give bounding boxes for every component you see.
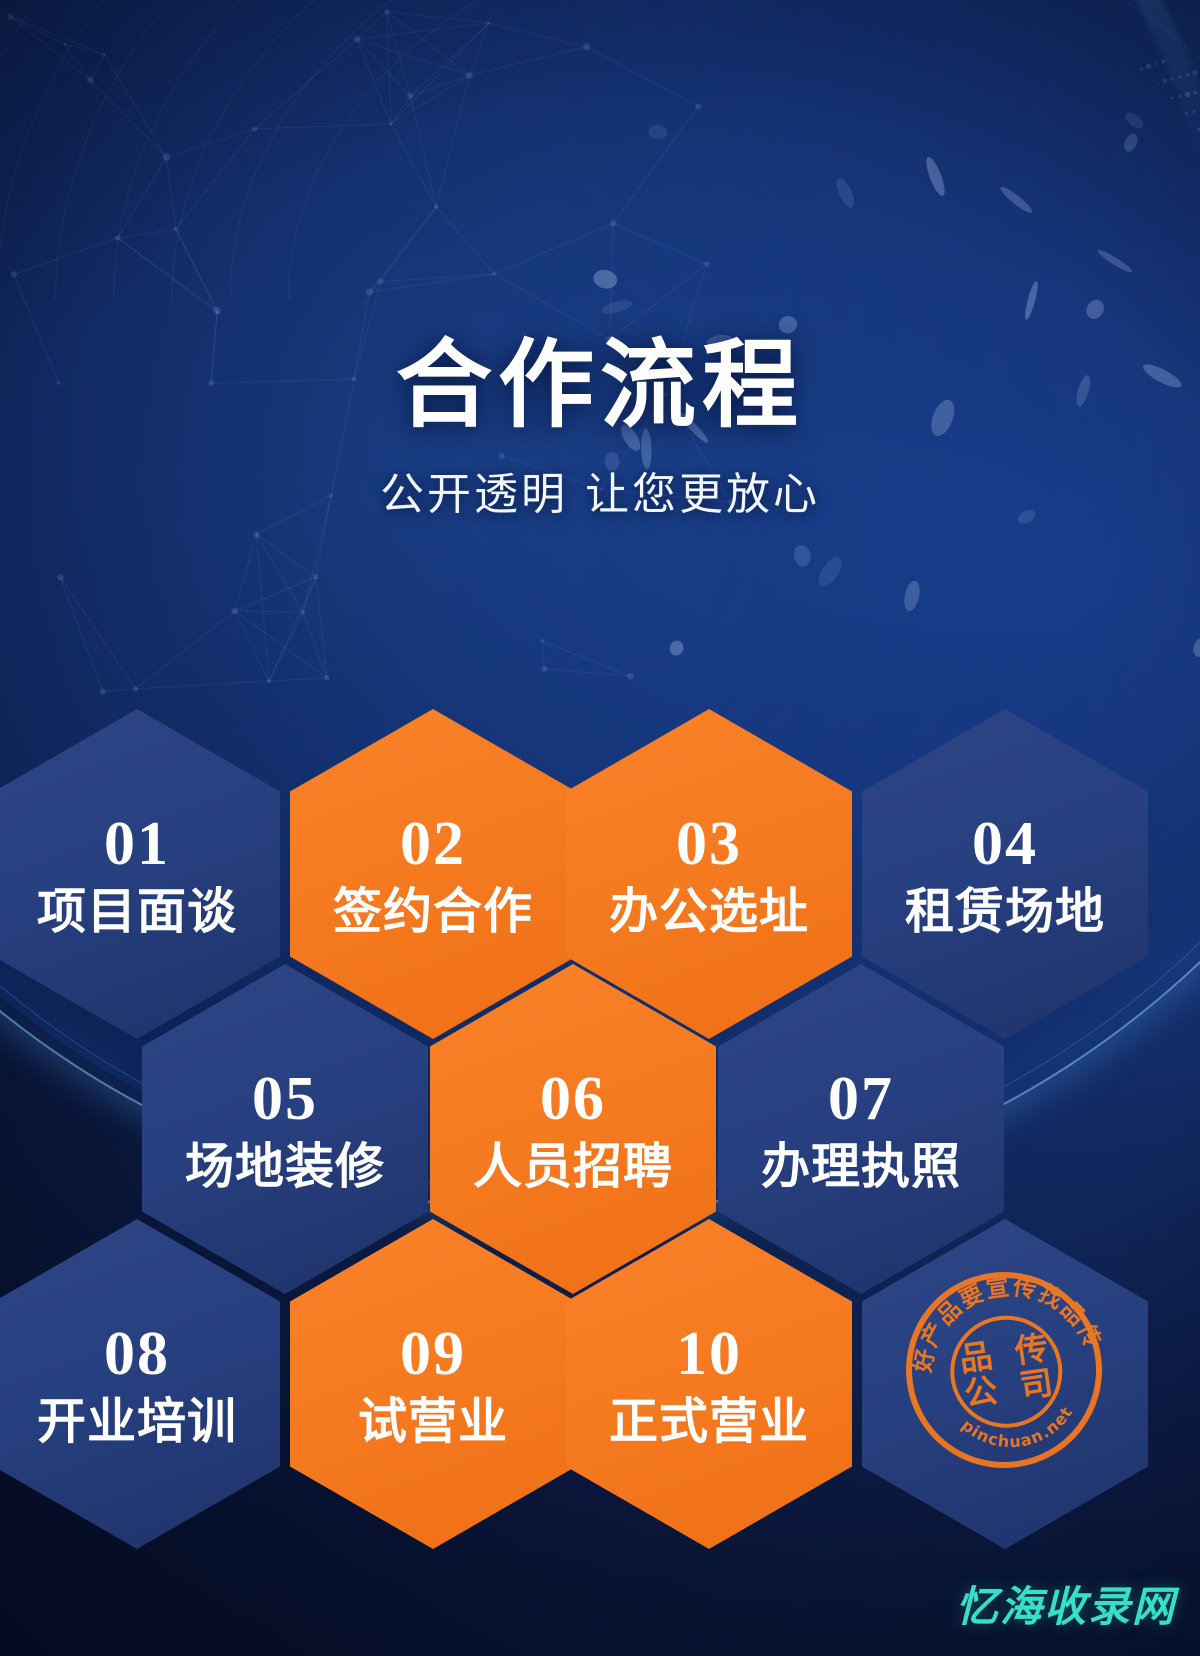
step-number: 06 [540, 1068, 606, 1130]
step-label: 人员招聘 [473, 1142, 673, 1191]
site-watermark: 忆海收录网 [956, 1573, 1176, 1634]
seal-center-char-4: 司 [1006, 1364, 1066, 1406]
step-label: 试营业 [358, 1397, 508, 1446]
poster-canvas: 合作流程 公开透明 让您更放心 01 项目面谈 02 签约合作 03 办公选址 … [0, 0, 1200, 1656]
step-number: 10 [676, 1323, 742, 1385]
step-number: 05 [252, 1068, 318, 1130]
step-label: 正式营业 [609, 1397, 809, 1446]
step-number: 08 [104, 1323, 170, 1385]
process-step-08[interactable]: 08 开业培训 [0, 1219, 280, 1549]
process-step-01[interactable]: 01 项目面谈 [0, 709, 280, 1039]
process-step-05[interactable]: 05 场地装修 [142, 964, 428, 1294]
step-label: 租赁场地 [905, 887, 1105, 936]
step-number: 02 [400, 813, 466, 875]
step-label: 场地装修 [185, 1142, 385, 1191]
seal-center-text: 品 传 公 司 [943, 1308, 1069, 1434]
step-number: 07 [828, 1068, 894, 1130]
step-label: 开业培训 [37, 1397, 237, 1446]
step-number: 03 [676, 813, 742, 875]
step-number: 09 [400, 1323, 466, 1385]
step-label: 办公选址 [609, 887, 809, 936]
step-label: 签约合作 [333, 887, 533, 936]
step-label: 项目面谈 [37, 887, 237, 936]
step-label: 办理执照 [761, 1142, 961, 1191]
company-stamp-seal: 好产品要宣传找品传 pinchuan.net 品 传 公 司 [893, 1259, 1114, 1480]
seal-center-char-3: 公 [951, 1372, 1011, 1414]
step-number: 01 [104, 813, 170, 875]
step-number: 04 [972, 813, 1038, 875]
